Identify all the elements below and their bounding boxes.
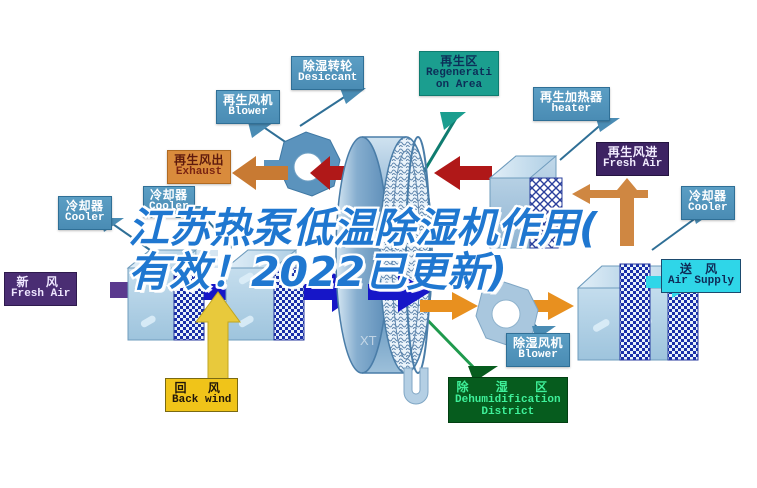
label-cooler-right-cn: 冷却器	[688, 190, 728, 203]
label-cooler-mid[interactable]: 冷却器 Cooler	[143, 186, 195, 218]
callout-tail-regeneration	[440, 112, 466, 130]
label-regeneration-heater-en: heater	[540, 104, 603, 116]
label-back-wind-en: Back wind	[172, 395, 231, 407]
regen-hot-arrow-2	[434, 156, 492, 190]
label-fresh-air-inlet-cn: 新 风	[11, 276, 70, 289]
label-cooler-left-en: Cooler	[65, 213, 105, 225]
label-dehumidification-district-en-1: Dehumidification	[455, 394, 561, 406]
label-dehumidification-blower-en: Blower	[513, 350, 563, 362]
label-cooler-left-cn: 冷却器	[65, 200, 105, 213]
label-regeneration-exhaust-en: Exhaust	[174, 167, 224, 179]
label-dehumidification-district-cn: 除 湿 区	[455, 381, 561, 394]
label-dehumidification-blower-cn: 除湿风机	[513, 337, 563, 350]
label-dehumidification-district-en-2: District	[455, 406, 561, 418]
label-back-wind[interactable]: 回 风 Back wind	[165, 378, 238, 412]
label-regeneration-fresh-air-en: Fresh Air	[603, 159, 662, 171]
label-regeneration-exhaust-cn: 再生风出	[174, 154, 224, 167]
label-dehumidification-district[interactable]: 除 湿 区 Dehumidification District	[448, 377, 568, 423]
supply-outlet-block	[578, 264, 650, 360]
label-regeneration-blower-en: Blower	[223, 107, 273, 119]
label-desiccant-wheel[interactable]: 除湿转轮 Desiccant	[291, 56, 364, 90]
label-cooler-right[interactable]: 冷却器 Cooler	[681, 186, 735, 220]
label-regeneration-blower-cn: 再生风机	[223, 94, 273, 107]
label-cooler-mid-en: Cooler	[149, 202, 189, 214]
label-fresh-air-inlet-en: Fresh Air	[11, 289, 70, 301]
label-regeneration-fresh-air-cn: 再生风进	[603, 146, 662, 159]
label-air-supply-cn: 送 风	[668, 263, 734, 276]
label-dehumidification-blower[interactable]: 除湿风机 Blower	[506, 333, 570, 367]
label-regeneration-fresh-air[interactable]: 再生风进 Fresh Air	[596, 142, 669, 176]
label-regeneration-heater-cn: 再生加热器	[540, 91, 603, 104]
label-regeneration-area-cn: 再生区	[426, 55, 492, 68]
drain-pan	[404, 368, 428, 404]
label-air-supply[interactable]: 送 风 Air Supply	[661, 259, 741, 293]
svg-text:XT: XT	[360, 333, 377, 348]
desiccant-rotor: XT	[336, 137, 432, 373]
label-regeneration-area-en-2: on Area	[426, 80, 492, 92]
label-regeneration-area-en-1: Regenerati	[426, 68, 492, 80]
label-back-wind-cn: 回 风	[172, 382, 231, 395]
label-regeneration-blower[interactable]: 再生风机 Blower	[216, 90, 280, 124]
label-cooler-right-en: Cooler	[688, 203, 728, 215]
label-regeneration-exhaust[interactable]: 再生风出 Exhaust	[167, 150, 231, 184]
label-regeneration-area[interactable]: 再生区 Regenerati on Area	[419, 51, 499, 96]
dehumidifier-diagram: XT	[0, 0, 757, 488]
regen-intake-riser	[612, 178, 642, 246]
label-regeneration-heater[interactable]: 再生加热器 heater	[533, 87, 610, 121]
label-cooler-mid-cn: 冷却器	[149, 189, 189, 202]
label-air-supply-en: Air Supply	[668, 276, 734, 288]
label-cooler-left[interactable]: 冷却器 Cooler	[58, 196, 112, 230]
label-fresh-air-inlet[interactable]: 新 风 Fresh Air	[4, 272, 77, 306]
diagram-artwork: XT	[0, 0, 757, 488]
heater-block	[490, 156, 562, 248]
label-desiccant-wheel-cn: 除湿转轮	[298, 60, 357, 73]
cooler-coil-2	[226, 250, 304, 340]
label-desiccant-wheel-en: Desiccant	[298, 73, 357, 85]
